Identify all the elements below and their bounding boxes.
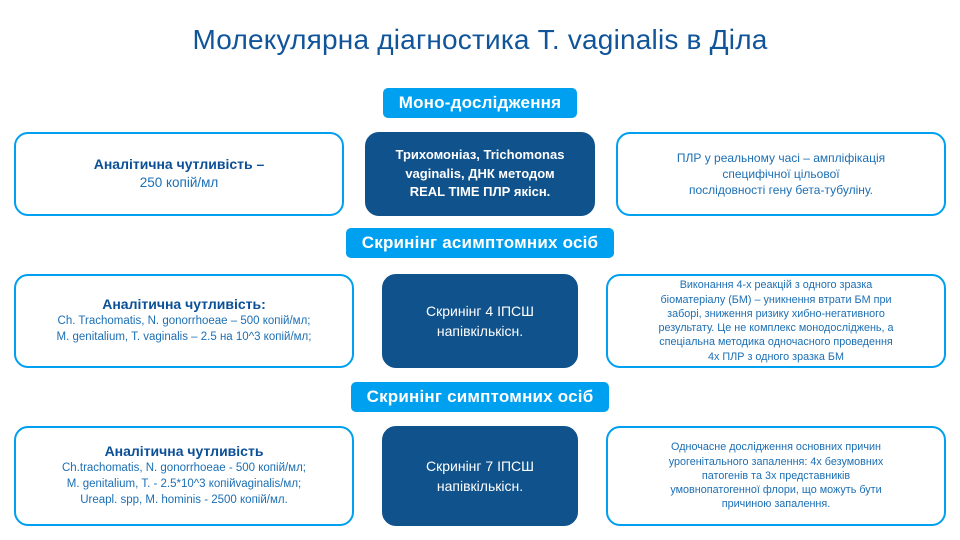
card-heading: Аналітична чутливість: [105, 443, 264, 461]
card-description-symptomatic: Одночасне дослідження основних причин ур…: [606, 426, 946, 526]
card-line: заборі, зниження ризику хибно-негативног…: [667, 307, 885, 321]
card-line: REAL TIME ПЛР якісн.: [410, 183, 551, 202]
card-test-name-symptomatic: Скринінг 7 ІПСШ напівкількісн.: [382, 426, 578, 526]
card-line: ПЛР у реальному часі – ампліфікація: [677, 150, 885, 166]
card-line: Ch. Trachomatis, N. gonorrhoeae – 500 ко…: [58, 314, 311, 330]
section-banner-mono: Моно-дослідження: [383, 88, 578, 118]
card-line: 4х ПЛР з одного зразка БМ: [708, 350, 844, 364]
card-line: специфічної цільової: [722, 166, 839, 182]
section-symptomatic-screening: Скринінг симптомних осіб: [0, 382, 960, 412]
card-line: Одночасне дослідження основних причин: [671, 440, 881, 454]
page-title: Молекулярна діагностика T. vaginalis в Д…: [0, 24, 960, 56]
card-line: Виконання 4-х реакцій з одного зразка: [680, 278, 873, 292]
card-line: послідовності гену бета-тубуліну.: [689, 182, 873, 198]
card-heading: Аналітична чутливість:: [102, 296, 266, 314]
card-row-symptomatic: Аналітична чутливість Ch.trachomatis, N.…: [0, 426, 960, 526]
card-line: результату. Це не комплекс монодосліджен…: [658, 321, 893, 335]
card-heading: Аналітична чутливість –: [94, 156, 265, 174]
card-line: Ureapl. spp, M. hominis - 2500 копій/мл.: [80, 493, 288, 509]
card-sensitivity-symptomatic: Аналітична чутливість Ch.trachomatis, N.…: [14, 426, 354, 526]
card-row-asymptomatic: Аналітична чутливість: Ch. Trachomatis, …: [0, 274, 960, 368]
card-line: урогенітального запалення: 4х безумовних: [669, 455, 884, 469]
card-line: Скринінг 7 ІПСШ: [426, 456, 534, 476]
slide-canvas: Молекулярна діагностика T. vaginalis в Д…: [0, 0, 960, 540]
card-line: напівкількісн.: [437, 476, 523, 496]
section-banner-symptomatic: Скринінг симптомних осіб: [351, 382, 610, 412]
section-banner-asymptomatic: Скринінг асимптомних осіб: [346, 228, 614, 258]
card-test-name-asymptomatic: Скринінг 4 ІПСШ напівкількісн.: [382, 274, 578, 368]
card-line: M. genitalium, T. - 2.5*10^3 копійvagina…: [67, 477, 302, 493]
card-description-asymptomatic: Виконання 4-х реакцій з одного зразка бі…: [606, 274, 946, 368]
card-row-mono: Аналітична чутливість – 250 копій/мл Три…: [0, 132, 960, 216]
card-sensitivity-mono: Аналітична чутливість – 250 копій/мл: [14, 132, 344, 216]
card-line: Трихомоніаз, Trichomonas: [396, 146, 565, 165]
card-line: напівкількісн.: [437, 321, 523, 341]
section-mono-research: Моно-дослідження: [0, 88, 960, 118]
card-sensitivity-asymptomatic: Аналітична чутливість: Ch. Trachomatis, …: [14, 274, 354, 368]
card-test-name-mono: Трихомоніаз, Trichomonas vaginalis, ДНК …: [365, 132, 595, 216]
card-line: умовнопатогенної флори, що можуть бути: [670, 483, 881, 497]
card-line: Ch.trachomatis, N. gonorrhoeae - 500 коп…: [62, 461, 306, 477]
card-line: біоматеріалу (БМ) – уникнення втрати БМ …: [661, 293, 892, 307]
section-asymptomatic-screening: Скринінг асимптомних осіб: [0, 228, 960, 258]
card-line: патогенів та 3х представників: [702, 469, 850, 483]
card-line: Скринінг 4 ІПСШ: [426, 301, 534, 321]
card-description-mono: ПЛР у реальному часі – ампліфікація спец…: [616, 132, 946, 216]
card-line: vaginalis, ДНК методом: [405, 165, 554, 184]
card-line: спеціальна методика одночасного проведен…: [659, 335, 893, 349]
card-line: M. genitalium, T. vaginalis – 2.5 на 10^…: [57, 330, 312, 346]
card-line: 250 копій/мл: [140, 174, 219, 192]
card-line: причиною запалення.: [722, 497, 831, 511]
